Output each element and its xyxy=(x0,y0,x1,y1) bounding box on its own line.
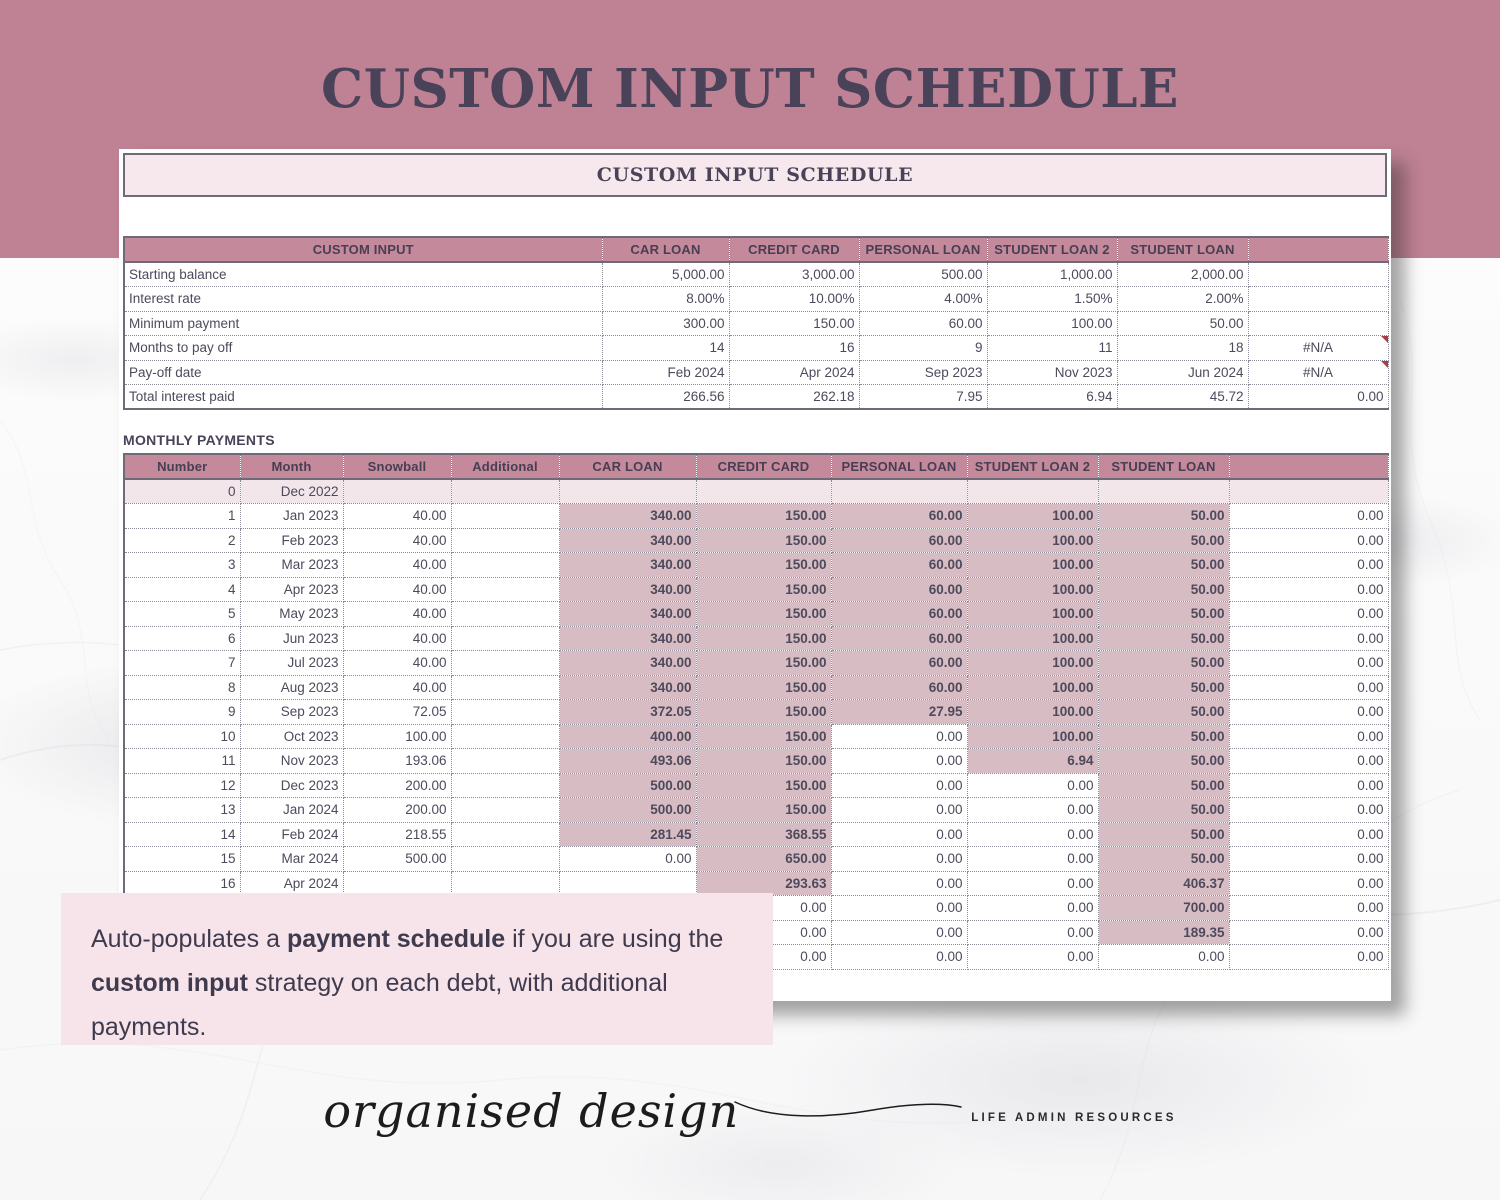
cell[interactable]: 16 xyxy=(124,871,240,896)
col-header-custom-input: CUSTOM INPUT xyxy=(124,237,602,262)
cell[interactable]: 10.00% xyxy=(729,287,859,312)
cell[interactable]: Feb 2024 xyxy=(240,822,343,847)
cell[interactable]: 100.00 xyxy=(967,651,1098,676)
cell[interactable]: 60.00 xyxy=(831,528,967,553)
cell[interactable]: 100.00 xyxy=(967,602,1098,627)
cell[interactable]: 0.00 xyxy=(1229,822,1388,847)
cell[interactable]: 340.00 xyxy=(559,504,696,529)
cell[interactable]: 0.00 xyxy=(831,798,967,823)
cell[interactable] xyxy=(451,822,559,847)
cell[interactable]: 50.00 xyxy=(1098,724,1229,749)
cell[interactable]: 2.00% xyxy=(1117,287,1248,312)
cell[interactable]: 60.00 xyxy=(831,626,967,651)
cell[interactable]: 0.00 xyxy=(1229,920,1388,945)
cell[interactable] xyxy=(1098,479,1229,504)
cell[interactable]: 200.00 xyxy=(343,798,451,823)
col-header-credit-card: CREDIT CARD xyxy=(729,237,859,262)
cell[interactable]: 150.00 xyxy=(696,675,831,700)
cell[interactable]: 0.00 xyxy=(1098,945,1229,970)
cell[interactable]: 293.63 xyxy=(696,871,831,896)
cell[interactable] xyxy=(451,847,559,872)
cell[interactable]: 0.00 xyxy=(1229,577,1388,602)
cell[interactable]: 0.00 xyxy=(1229,871,1388,896)
cell[interactable]: Mar 2024 xyxy=(240,847,343,872)
cell[interactable]: 0.00 xyxy=(1229,504,1388,529)
table-row: 1Jan 202340.00340.00150.0060.00100.0050.… xyxy=(124,504,1388,529)
cell[interactable] xyxy=(696,479,831,504)
cell[interactable]: 5,000.00 xyxy=(602,262,729,287)
cell[interactable]: 6.94 xyxy=(987,385,1117,410)
cell[interactable]: 14 xyxy=(124,822,240,847)
cell[interactable] xyxy=(451,871,559,896)
cell[interactable]: Nov 2023 xyxy=(987,360,1117,385)
cell[interactable] xyxy=(343,871,451,896)
cell[interactable]: Feb 2024 xyxy=(602,360,729,385)
callout-text: Auto-populates a payment schedule if you… xyxy=(91,917,743,1049)
cell[interactable]: 1.50% xyxy=(987,287,1117,312)
row-label: Starting balance xyxy=(124,262,602,287)
callout-box: Auto-populates a payment schedule if you… xyxy=(61,893,773,1045)
table-row: Interest rate8.00%10.00%4.00%1.50%2.00% xyxy=(124,287,1388,312)
cell[interactable]: 50.00 xyxy=(1098,798,1229,823)
cell[interactable]: 0.00 xyxy=(1229,896,1388,921)
cell[interactable]: 500.00 xyxy=(559,773,696,798)
col-header-m-student-loan-2: STUDENT LOAN 2 xyxy=(967,454,1098,479)
table-row: 5May 202340.00340.00150.0060.00100.0050.… xyxy=(124,602,1388,627)
cell[interactable]: 9 xyxy=(859,336,987,361)
cell[interactable]: 150.00 xyxy=(696,798,831,823)
cell[interactable]: 40.00 xyxy=(343,675,451,700)
cell[interactable]: 281.45 xyxy=(559,822,696,847)
cell[interactable]: 12 xyxy=(124,773,240,798)
cell[interactable]: 218.55 xyxy=(343,822,451,847)
cell[interactable]: 150.00 xyxy=(696,773,831,798)
cell[interactable]: 0.00 xyxy=(1229,553,1388,578)
cell[interactable]: May 2023 xyxy=(240,602,343,627)
logo-script-text: organised design xyxy=(323,1088,739,1134)
sheet-title-bar: CUSTOM INPUT SCHEDULE xyxy=(123,153,1387,197)
cell[interactable]: 400.00 xyxy=(559,724,696,749)
cell[interactable]: 100.00 xyxy=(967,504,1098,529)
cell[interactable]: 40.00 xyxy=(343,553,451,578)
cell[interactable]: Jan 2024 xyxy=(240,798,343,823)
callout-bold-1: payment schedule xyxy=(287,925,505,953)
cell[interactable]: 10 xyxy=(124,724,240,749)
cell[interactable] xyxy=(451,479,559,504)
cell[interactable]: 50.00 xyxy=(1098,528,1229,553)
cell[interactable]: 4 xyxy=(124,577,240,602)
cell[interactable]: 50.00 xyxy=(1098,847,1229,872)
cell[interactable]: 150.00 xyxy=(696,700,831,725)
col-header-snowball: Snowball xyxy=(343,454,451,479)
cell[interactable]: 150.00 xyxy=(729,311,859,336)
row-label: Minimum payment xyxy=(124,311,602,336)
cell[interactable]: 6.94 xyxy=(967,749,1098,774)
cell[interactable]: Apr 2024 xyxy=(240,871,343,896)
cell[interactable]: #N/A xyxy=(1248,336,1388,361)
cell[interactable]: 0.00 xyxy=(831,920,967,945)
cell[interactable]: 4.00% xyxy=(859,287,987,312)
cell[interactable]: 0.00 xyxy=(967,798,1098,823)
cell[interactable]: 100.00 xyxy=(343,724,451,749)
cell[interactable]: 340.00 xyxy=(559,602,696,627)
cell[interactable]: 50.00 xyxy=(1117,311,1248,336)
cell[interactable] xyxy=(451,700,559,725)
cell[interactable]: 0.00 xyxy=(967,920,1098,945)
col-header-month: Month xyxy=(240,454,343,479)
cell[interactable]: 372.05 xyxy=(559,700,696,725)
cell[interactable]: 50.00 xyxy=(1098,553,1229,578)
cell[interactable] xyxy=(451,798,559,823)
cell[interactable]: 0.00 xyxy=(1229,798,1388,823)
cell[interactable]: 0.00 xyxy=(1229,651,1388,676)
cell[interactable]: 6 xyxy=(124,626,240,651)
cell[interactable]: 150.00 xyxy=(696,724,831,749)
cell[interactable]: #N/A xyxy=(1248,360,1388,385)
cell[interactable]: 150.00 xyxy=(696,602,831,627)
cell[interactable]: 0.00 xyxy=(1229,626,1388,651)
cell[interactable]: 0.00 xyxy=(1229,749,1388,774)
cell[interactable]: 150.00 xyxy=(696,626,831,651)
cell[interactable]: 11 xyxy=(987,336,1117,361)
cell[interactable]: 60.00 xyxy=(831,651,967,676)
cell[interactable] xyxy=(451,577,559,602)
cell[interactable]: 50.00 xyxy=(1098,577,1229,602)
cell[interactable]: 193.06 xyxy=(343,749,451,774)
cell[interactable]: 700.00 xyxy=(1098,896,1229,921)
cell[interactable]: 340.00 xyxy=(559,675,696,700)
cell[interactable] xyxy=(1248,287,1388,312)
row-label: Total interest paid xyxy=(124,385,602,410)
cell[interactable]: 3 xyxy=(124,553,240,578)
cell[interactable]: 0.00 xyxy=(1229,700,1388,725)
cell[interactable] xyxy=(1248,311,1388,336)
cell[interactable]: 27.95 xyxy=(831,700,967,725)
col-header-student-loan: STUDENT LOAN xyxy=(1117,237,1248,262)
cell[interactable]: Jun 2024 xyxy=(1117,360,1248,385)
cell[interactable]: 100.00 xyxy=(967,675,1098,700)
cell[interactable]: 9 xyxy=(124,700,240,725)
cell[interactable] xyxy=(451,504,559,529)
cell[interactable]: 0.00 xyxy=(1229,945,1388,970)
cell[interactable] xyxy=(451,749,559,774)
table-row: 4Apr 202340.00340.00150.0060.00100.0050.… xyxy=(124,577,1388,602)
cell[interactable]: 262.18 xyxy=(729,385,859,410)
cell[interactable]: 72.05 xyxy=(343,700,451,725)
cell[interactable]: Dec 2023 xyxy=(240,773,343,798)
cell[interactable]: 50.00 xyxy=(1098,822,1229,847)
cell[interactable]: 0.00 xyxy=(1229,773,1388,798)
cell[interactable]: 266.56 xyxy=(602,385,729,410)
cell[interactable]: 340.00 xyxy=(559,577,696,602)
cell[interactable]: 3,000.00 xyxy=(729,262,859,287)
logo-subtitle: LIFE ADMIN RESOURCES xyxy=(971,1112,1176,1124)
cell[interactable]: 0.00 xyxy=(831,871,967,896)
custom-input-table: CUSTOM INPUT CAR LOAN CREDIT CARD PERSON… xyxy=(123,236,1389,410)
cell[interactable]: 0.00 xyxy=(967,847,1098,872)
col-header-m-personal-loan: PERSONAL LOAN xyxy=(831,454,967,479)
cell[interactable]: 0.00 xyxy=(1229,724,1388,749)
logo-swash-icon xyxy=(733,1096,963,1122)
col-header-car-loan: CAR LOAN xyxy=(602,237,729,262)
cell[interactable] xyxy=(1248,262,1388,287)
cell[interactable]: Dec 2022 xyxy=(240,479,343,504)
cell[interactable]: 11 xyxy=(124,749,240,774)
cell[interactable]: 0.00 xyxy=(1248,385,1388,410)
cell[interactable]: 0.00 xyxy=(831,945,967,970)
cell[interactable]: 50.00 xyxy=(1098,749,1229,774)
cell[interactable]: 300.00 xyxy=(602,311,729,336)
cell[interactable] xyxy=(451,675,559,700)
callout-part-2: if you are using the xyxy=(505,925,723,953)
cell[interactable]: 0.00 xyxy=(831,896,967,921)
col-header-personal-loan: PERSONAL LOAN xyxy=(859,237,987,262)
spreadsheet-panel: CUSTOM INPUT SCHEDULE CUSTOM INPUT CAR L… xyxy=(119,149,1391,1001)
cell[interactable] xyxy=(1229,479,1388,504)
table-row: 0Dec 2022 xyxy=(124,479,1388,504)
row-label: Months to pay off xyxy=(124,336,602,361)
cell[interactable]: 500.00 xyxy=(559,798,696,823)
cell[interactable] xyxy=(451,602,559,627)
cell[interactable] xyxy=(343,479,451,504)
cell[interactable]: 340.00 xyxy=(559,651,696,676)
cell[interactable]: 15 xyxy=(124,847,240,872)
cell[interactable]: Nov 2023 xyxy=(240,749,343,774)
cell[interactable]: 189.35 xyxy=(1098,920,1229,945)
cell[interactable]: 1 xyxy=(124,504,240,529)
cell[interactable]: 2 xyxy=(124,528,240,553)
cell[interactable]: 100.00 xyxy=(967,553,1098,578)
cell[interactable]: 368.55 xyxy=(696,822,831,847)
cell[interactable]: 8.00% xyxy=(602,287,729,312)
cell[interactable] xyxy=(967,479,1098,504)
cell[interactable]: 0.00 xyxy=(967,896,1098,921)
cell[interactable]: Mar 2023 xyxy=(240,553,343,578)
cell[interactable]: Sep 2023 xyxy=(240,700,343,725)
table-row: 7Jul 202340.00340.00150.0060.00100.0050.… xyxy=(124,651,1388,676)
cell[interactable]: 50.00 xyxy=(1098,504,1229,529)
cell[interactable] xyxy=(831,479,967,504)
cell[interactable]: 50.00 xyxy=(1098,700,1229,725)
monthly-payments-label: MONTHLY PAYMENTS xyxy=(123,432,1391,448)
col-header-number: Number xyxy=(124,454,240,479)
cell[interactable]: 5 xyxy=(124,602,240,627)
cell[interactable]: 340.00 xyxy=(559,626,696,651)
cell[interactable]: 8 xyxy=(124,675,240,700)
cell[interactable]: 7.95 xyxy=(859,385,987,410)
cell[interactable]: 100.00 xyxy=(967,528,1098,553)
cell[interactable]: 340.00 xyxy=(559,528,696,553)
cell[interactable] xyxy=(451,773,559,798)
monthly-header-row: Number Month Snowball Additional CAR LOA… xyxy=(124,454,1388,479)
brand-logo: organised design LIFE ADMIN RESOURCES xyxy=(0,1088,1500,1134)
cell[interactable] xyxy=(451,651,559,676)
cell[interactable]: 50.00 xyxy=(1098,675,1229,700)
cell[interactable]: Jan 2023 xyxy=(240,504,343,529)
page-title: CUSTOM INPUT SCHEDULE xyxy=(0,58,1500,120)
col-header-m-blank xyxy=(1229,454,1388,479)
cell[interactable]: 150.00 xyxy=(696,749,831,774)
cell[interactable]: 60.00 xyxy=(831,553,967,578)
table-row: 13Jan 2024200.00500.00150.000.000.0050.0… xyxy=(124,798,1388,823)
table-row: 15Mar 2024500.000.00650.000.000.0050.000… xyxy=(124,847,1388,872)
cell[interactable]: 0.00 xyxy=(967,945,1098,970)
row-label: Interest rate xyxy=(124,287,602,312)
cell[interactable]: Apr 2024 xyxy=(729,360,859,385)
cell[interactable]: 150.00 xyxy=(696,651,831,676)
cell[interactable]: Sep 2023 xyxy=(859,360,987,385)
custom-input-header-row: CUSTOM INPUT CAR LOAN CREDIT CARD PERSON… xyxy=(124,237,1388,262)
cell[interactable]: 60.00 xyxy=(831,675,967,700)
cell[interactable]: 0.00 xyxy=(967,773,1098,798)
cell[interactable]: 60.00 xyxy=(831,504,967,529)
col-header-m-credit-card: CREDIT CARD xyxy=(696,454,831,479)
table-row: 9Sep 202372.05372.05150.0027.95100.0050.… xyxy=(124,700,1388,725)
cell[interactable] xyxy=(451,528,559,553)
cell[interactable] xyxy=(451,626,559,651)
table-row: 6Jun 202340.00340.00150.0060.00100.0050.… xyxy=(124,626,1388,651)
cell[interactable]: 50.00 xyxy=(1098,602,1229,627)
cell[interactable]: 14 xyxy=(602,336,729,361)
cell[interactable]: 13 xyxy=(124,798,240,823)
cell[interactable]: 50.00 xyxy=(1098,626,1229,651)
cell[interactable]: 0.00 xyxy=(831,847,967,872)
cell[interactable]: 50.00 xyxy=(1098,773,1229,798)
cell[interactable] xyxy=(559,479,696,504)
cell[interactable]: 0.00 xyxy=(967,871,1098,896)
cell[interactable]: 40.00 xyxy=(343,626,451,651)
table-row: Minimum payment300.00150.0060.00100.0050… xyxy=(124,311,1388,336)
cell[interactable]: 493.06 xyxy=(559,749,696,774)
cell[interactable]: 500.00 xyxy=(343,847,451,872)
cell[interactable]: 150.00 xyxy=(696,577,831,602)
cell[interactable]: 200.00 xyxy=(343,773,451,798)
cell[interactable]: 18 xyxy=(1117,336,1248,361)
col-header-student-loan-2: STUDENT LOAN 2 xyxy=(987,237,1117,262)
cell[interactable]: 0.00 xyxy=(831,724,967,749)
table-row: 3Mar 202340.00340.00150.0060.00100.0050.… xyxy=(124,553,1388,578)
col-header-m-student-loan: STUDENT LOAN xyxy=(1098,454,1229,479)
cell[interactable]: 150.00 xyxy=(696,528,831,553)
cell[interactable]: 100.00 xyxy=(987,311,1117,336)
table-row: 11Nov 2023193.06493.06150.000.006.9450.0… xyxy=(124,749,1388,774)
cell[interactable]: 100.00 xyxy=(967,577,1098,602)
cell[interactable]: 0.00 xyxy=(1229,847,1388,872)
cell[interactable] xyxy=(559,871,696,896)
cell[interactable]: 0.00 xyxy=(1229,528,1388,553)
cell[interactable]: 60.00 xyxy=(859,311,987,336)
cell[interactable]: Apr 2023 xyxy=(240,577,343,602)
cell[interactable]: 650.00 xyxy=(696,847,831,872)
callout-bold-2: custom input xyxy=(91,969,248,997)
cell[interactable]: 1,000.00 xyxy=(987,262,1117,287)
table-row: 14Feb 2024218.55281.45368.550.000.0050.0… xyxy=(124,822,1388,847)
col-header-m-car-loan: CAR LOAN xyxy=(559,454,696,479)
cell[interactable]: 40.00 xyxy=(343,602,451,627)
cell[interactable]: 40.00 xyxy=(343,504,451,529)
cell[interactable]: 50.00 xyxy=(1098,651,1229,676)
cell[interactable]: 40.00 xyxy=(343,528,451,553)
cell[interactable]: Jul 2023 xyxy=(240,651,343,676)
cell[interactable]: 60.00 xyxy=(831,602,967,627)
cell[interactable]: 0.00 xyxy=(1229,675,1388,700)
cell[interactable]: 45.72 xyxy=(1117,385,1248,410)
cell[interactable]: 0.00 xyxy=(831,773,967,798)
col-header-additional: Additional xyxy=(451,454,559,479)
table-row: 12Dec 2023200.00500.00150.000.000.0050.0… xyxy=(124,773,1388,798)
cell[interactable]: 0.00 xyxy=(831,749,967,774)
cell[interactable]: 100.00 xyxy=(967,700,1098,725)
callout-part-1: Auto-populates a xyxy=(91,925,287,953)
table-row: Total interest paid266.56262.187.956.944… xyxy=(124,385,1388,410)
table-row: 10Oct 2023100.00400.00150.000.00100.0050… xyxy=(124,724,1388,749)
cell[interactable]: 2,000.00 xyxy=(1117,262,1248,287)
cell[interactable]: 150.00 xyxy=(696,553,831,578)
cell[interactable]: 16 xyxy=(729,336,859,361)
cell[interactable] xyxy=(451,724,559,749)
cell[interactable]: 406.37 xyxy=(1098,871,1229,896)
cell[interactable]: 40.00 xyxy=(343,651,451,676)
cell[interactable]: 500.00 xyxy=(859,262,987,287)
cell[interactable]: 0.00 xyxy=(967,822,1098,847)
cell[interactable]: Jun 2023 xyxy=(240,626,343,651)
cell[interactable]: Aug 2023 xyxy=(240,675,343,700)
table-row: 8Aug 202340.00340.00150.0060.00100.0050.… xyxy=(124,675,1388,700)
table-row: 16Apr 2024293.630.000.00406.370.00 xyxy=(124,871,1388,896)
cell[interactable]: 7 xyxy=(124,651,240,676)
cell[interactable]: 340.00 xyxy=(559,553,696,578)
row-label: Pay-off date xyxy=(124,360,602,385)
cell[interactable]: Feb 2023 xyxy=(240,528,343,553)
table-row: Months to pay off141691118#N/A xyxy=(124,336,1388,361)
cell[interactable]: Oct 2023 xyxy=(240,724,343,749)
table-row: 2Feb 202340.00340.00150.0060.00100.0050.… xyxy=(124,528,1388,553)
cell[interactable]: 100.00 xyxy=(967,626,1098,651)
cell[interactable] xyxy=(451,553,559,578)
cell[interactable]: 0.00 xyxy=(1229,602,1388,627)
col-header-blank xyxy=(1248,237,1388,262)
table-row: Pay-off dateFeb 2024Apr 2024Sep 2023Nov … xyxy=(124,360,1388,385)
cell[interactable]: 0.00 xyxy=(559,847,696,872)
cell[interactable]: 100.00 xyxy=(967,724,1098,749)
cell[interactable]: 0.00 xyxy=(831,822,967,847)
cell[interactable]: 150.00 xyxy=(696,504,831,529)
cell[interactable]: 0 xyxy=(124,479,240,504)
table-row: Starting balance5,000.003,000.00500.001,… xyxy=(124,262,1388,287)
sheet-title-text: CUSTOM INPUT SCHEDULE xyxy=(597,164,913,186)
cell[interactable]: 60.00 xyxy=(831,577,967,602)
cell[interactable]: 40.00 xyxy=(343,577,451,602)
